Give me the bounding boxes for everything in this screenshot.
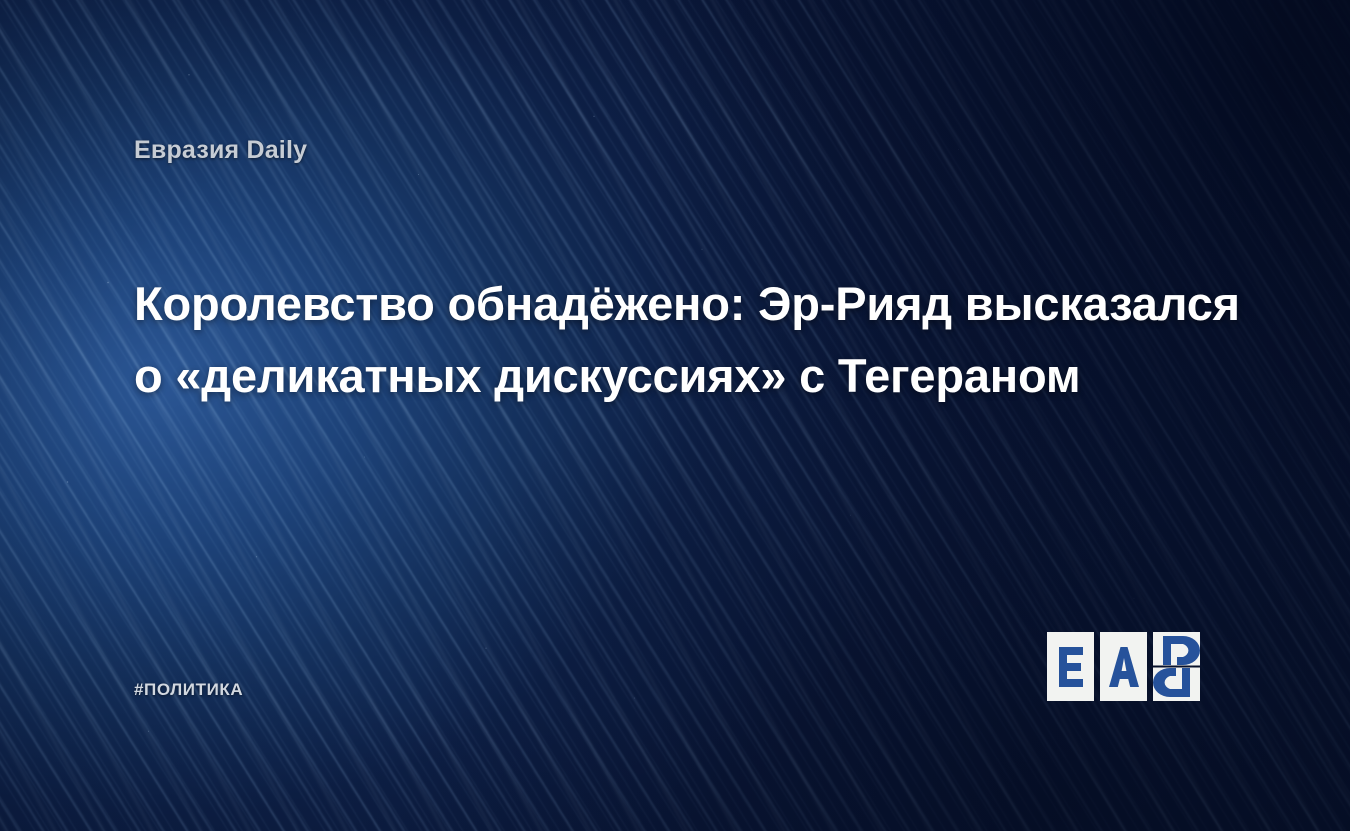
logo-letter-a-icon [1108, 645, 1140, 689]
category-tag[interactable]: #ПОЛИТИКА [134, 680, 243, 700]
eadaily-logo[interactable] [1047, 632, 1213, 701]
source-name: Евразия Daily [134, 136, 307, 165]
logo-letter-d-split-icon [1153, 632, 1213, 701]
page-title: Королевство обнадёжено: Эр-Рияд высказал… [134, 268, 1244, 412]
logo-tile-d-split [1153, 632, 1213, 701]
news-card: Евразия Daily Королевство обнадёжено: Эр… [0, 0, 1350, 831]
card-content: Евразия Daily Королевство обнадёжено: Эр… [0, 0, 1350, 831]
logo-letter-e-icon [1056, 645, 1086, 689]
logo-tile-e [1047, 632, 1094, 701]
logo-tile-a [1100, 632, 1147, 701]
